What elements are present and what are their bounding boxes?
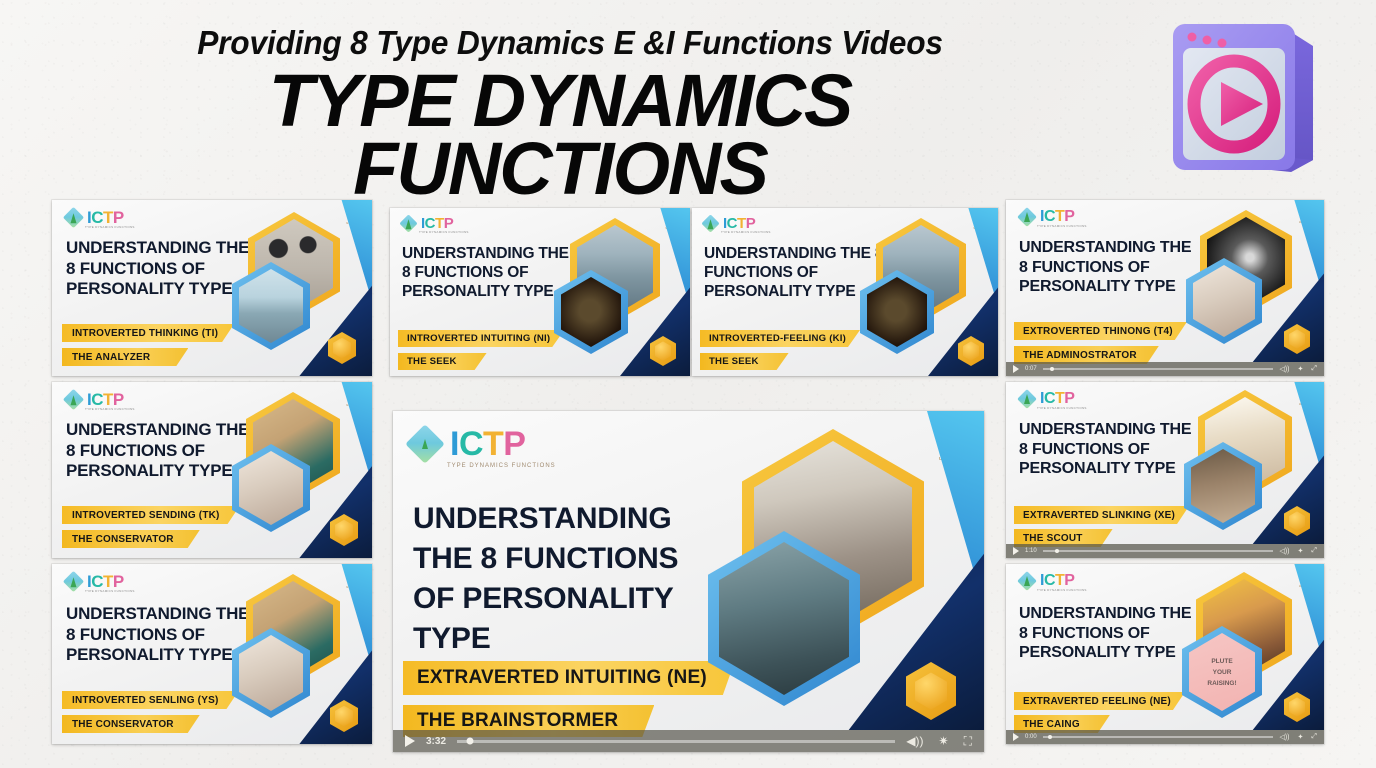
video-time: 0:07 xyxy=(1025,366,1037,372)
ictp-tagline: TYPE DYNAMICS FUNCTIONS xyxy=(85,225,135,229)
ictp-logo: ICTP xyxy=(411,427,525,461)
fullscreen-icon[interactable]: ⤢ xyxy=(1311,547,1317,555)
ictp-diamond-icon xyxy=(1017,389,1037,409)
ictp-diamond-icon xyxy=(399,214,417,232)
ictp-tagline: TYPE DYNAMICS FUNCTIONS xyxy=(1037,224,1087,228)
ictp-logo: ICTP xyxy=(1020,391,1074,407)
ictp-diamond-icon xyxy=(405,424,445,464)
video-progress-handle[interactable] xyxy=(1048,735,1052,739)
card-artwork xyxy=(1180,382,1324,544)
featured-video-card[interactable]: ICTP TYPE DYNAMICS FUNCTIONS Q UNIVERSIT… xyxy=(393,411,984,752)
video-player-3d-icon xyxy=(1163,12,1323,182)
card-artwork xyxy=(552,208,690,376)
ictp-wordmark: ICTP xyxy=(87,391,124,408)
gear-icon[interactable]: ✦ xyxy=(1298,547,1304,555)
card-headline: UNDERSTANDING THE 8 FUNCTIONS OF PERSONA… xyxy=(66,238,256,300)
featured-headline-line2: THE 8 FUNCTIONS xyxy=(413,543,703,574)
ictp-logo: ICTP xyxy=(402,216,453,231)
ictp-tagline: TYPE DYNAMICS FUNCTIONS xyxy=(1037,588,1087,592)
ictp-tagline: TYPE DYNAMICS FUNCTIONS xyxy=(1037,406,1087,410)
featured-artwork xyxy=(694,411,984,730)
featured-headline-line4: TYPE xyxy=(413,623,703,654)
header-subtitle: Providing 8 Type Dynamics E &I Functions… xyxy=(23,24,1117,62)
video-progress-handle[interactable] xyxy=(1055,549,1059,553)
card-artwork xyxy=(1182,200,1324,362)
note-line-2: YOUR xyxy=(1213,669,1232,676)
ictp-diamond-icon xyxy=(63,207,84,228)
role-ribbon: THE CONSERVATOR xyxy=(62,530,200,548)
ictp-logo: ICTP xyxy=(704,216,755,231)
ictp-tagline: TYPE DYNAMICS FUNCTIONS xyxy=(85,407,135,411)
card-headline: UNDERSTANDING THE 8 FUNCTIONS OF PERSONA… xyxy=(1019,420,1204,479)
video-progress-handle[interactable] xyxy=(1050,367,1054,371)
volume-icon[interactable]: ◁)) xyxy=(1279,733,1289,741)
video-card[interactable]: ICTP TYPE DYNAMICS FUNCTIONS Q UNIVERSIT… xyxy=(52,200,372,376)
card-artwork xyxy=(230,564,372,744)
card-headline: UNDERSTANDING THE 8 FUNCTIONS OF PERSONA… xyxy=(1019,238,1204,297)
card-artwork xyxy=(232,200,372,376)
ictp-wordmark: ICTP xyxy=(450,427,525,461)
fullscreen-icon[interactable]: ⤢ xyxy=(1311,365,1317,373)
ictp-wordmark: ICTP xyxy=(87,573,124,590)
ictp-wordmark: ICTP xyxy=(1040,209,1074,225)
video-card[interactable]: ICTP TYPE DYNAMICS FUNCTIONS Q UNIVERSIT… xyxy=(1006,200,1324,376)
video-card[interactable]: ICTP TYPE DYNAMICS FUNCTIONS Q UNIVERSIT… xyxy=(52,382,372,558)
video-control-bar[interactable]: 1:10 ◁)) ✦ ⤢ xyxy=(1006,544,1324,558)
gear-icon[interactable]: ✷ xyxy=(939,734,949,748)
volume-icon[interactable]: ◁)) xyxy=(1279,365,1289,373)
video-time: 3:32 xyxy=(426,736,446,747)
ictp-diamond-icon xyxy=(1017,571,1037,591)
video-control-bar[interactable]: 0:07 ◁)) ✦ ⤢ xyxy=(1006,362,1324,376)
page-title-line2: FUNCTIONS xyxy=(0,130,1120,208)
video-progress-track[interactable] xyxy=(457,740,895,743)
ictp-logo: ICTP xyxy=(1020,209,1074,225)
play-icon[interactable] xyxy=(1013,733,1019,741)
fullscreen-icon[interactable]: ⤢ xyxy=(1311,733,1317,741)
function-ribbon: INTROVERTED-FEELING (KI) xyxy=(700,330,860,347)
video-card[interactable]: ICTP TYPE DYNAMICS FUNCTIONS Q UNIVERSIT… xyxy=(692,208,998,376)
ictp-diamond-icon xyxy=(63,389,84,410)
ictp-tagline: TYPE DYNAMICS FUNCTIONS xyxy=(721,230,771,234)
role-ribbon: THE CONSERVATOR xyxy=(62,715,200,733)
video-right-controls[interactable]: ◁)) ✦ ⤢ xyxy=(1279,547,1317,555)
card-artwork xyxy=(230,382,372,558)
video-control-bar[interactable]: 0:00 ◁)) ✦ ⤢ xyxy=(1006,730,1324,744)
featured-function-ribbon: EXTRAVERTED INTUITING (Ne) xyxy=(403,661,735,695)
gear-icon[interactable]: ✦ xyxy=(1298,365,1304,373)
ictp-logo: ICTP xyxy=(1020,573,1074,589)
volume-icon[interactable]: ◁)) xyxy=(1279,547,1289,555)
card-artwork xyxy=(858,208,998,376)
role-ribbon: THE SEEK xyxy=(398,353,487,370)
function-ribbon: INTROVERTED INTUITING (Ni) xyxy=(398,330,564,347)
function-ribbon: INTROVERTED SENLING (YS) xyxy=(62,691,238,709)
video-time: 1:10 xyxy=(1025,548,1037,554)
video-card[interactable]: ICTP TYPE DYNAMICS FUNCTIONS Q UNIVERSIT… xyxy=(1006,382,1324,558)
volume-icon[interactable]: ◀)) xyxy=(906,734,923,748)
card-headline: UNDERSTANDING THE 8 FUNCTIONS OF PERSONA… xyxy=(1019,604,1204,663)
card-headline: UNDERSTANDING THE 8 FUNCTIONS OF PERSONA… xyxy=(66,604,256,666)
ictp-tagline: TYPE DYNAMICS FUNCTIONS xyxy=(85,589,135,593)
note-card-text: PLUTE YOUR RAISING! xyxy=(1189,633,1255,711)
play-icon[interactable] xyxy=(1013,365,1019,373)
video-right-controls[interactable]: ◀)) ✷ ⛶ xyxy=(906,734,972,749)
play-icon[interactable] xyxy=(1013,547,1019,555)
function-ribbon: INTROVERTED SENDING (Tk) xyxy=(62,506,240,524)
video-card[interactable]: ICTP TYPE DYNAMICS FUNCTIONS Q UNIVERSIT… xyxy=(390,208,690,376)
ictp-diamond-icon xyxy=(701,214,719,232)
ictp-wordmark: ICTP xyxy=(87,209,124,226)
featured-video-control-bar[interactable]: 3:32 ◀)) ✷ ⛶ xyxy=(393,730,984,752)
note-line-1: PLUTE xyxy=(1211,658,1232,665)
function-ribbon: INTROVERTED THINKING (Ti) xyxy=(62,324,234,342)
role-ribbon: THE SEEK xyxy=(700,353,789,370)
function-ribbon: EXTRAVERTED SLINKING (Xe) xyxy=(1014,506,1189,524)
video-progress-track[interactable] xyxy=(1043,368,1274,370)
video-card[interactable]: ICTP TYPE DYNAMICS FUNCTIONS Q UNIVERSIT… xyxy=(1006,564,1324,744)
card-headline: UNDERSTANDING THE 8 FUNCTIONS OF PERSONA… xyxy=(402,244,577,301)
video-progress-track[interactable] xyxy=(1043,736,1274,738)
ictp-tagline: TYPE DYNAMICS FUNCTIONS xyxy=(419,230,469,234)
function-ribbon: EXTROVERTED THINONG (T4) xyxy=(1014,322,1187,340)
card-headline: UNDERSTANDING THE 8 FUNCTIONS OF PERSONA… xyxy=(704,244,884,301)
video-progress-track[interactable] xyxy=(1043,550,1274,552)
ictp-tagline: TYPE DYNAMICS FUNCTIONS xyxy=(447,463,556,469)
ictp-diamond-icon xyxy=(63,571,84,592)
ictp-wordmark: ICTP xyxy=(723,216,755,231)
function-ribbon: EXTRAVERTED FEELING (Ne) xyxy=(1014,692,1185,710)
video-card[interactable]: ICTP TYPE DYNAMICS FUNCTIONS Q UNIVERSIT… xyxy=(52,564,372,744)
video-progress-handle[interactable] xyxy=(467,738,474,745)
video-time: 0:00 xyxy=(1025,734,1037,740)
page-header: Providing 8 Type Dynamics E &I Functions… xyxy=(0,0,1376,200)
ictp-wordmark: ICTP xyxy=(421,216,453,231)
ictp-logo: ICTP xyxy=(66,209,124,226)
note-line-3: RAISING! xyxy=(1207,680,1236,687)
card-headline: UNDERSTANDING THE 8 FUNCTIONS OF PERSONA… xyxy=(66,420,256,482)
ictp-wordmark: ICTP xyxy=(1040,573,1074,589)
video-right-controls[interactable]: ◁)) ✦ ⤢ xyxy=(1279,733,1317,741)
fullscreen-icon[interactable]: ⛶ xyxy=(964,734,972,749)
ictp-wordmark: ICTP xyxy=(1040,391,1074,407)
ictp-logo: ICTP xyxy=(66,573,124,590)
gear-icon[interactable]: ✦ xyxy=(1298,733,1304,741)
video-right-controls[interactable]: ◁)) ✦ ⤢ xyxy=(1279,365,1317,373)
card-artwork: PLUTE YOUR RAISING! xyxy=(1178,564,1324,730)
play-icon[interactable] xyxy=(405,735,415,747)
ictp-diamond-icon xyxy=(1017,207,1037,227)
featured-headline-line3: OF PERSONALITY xyxy=(413,583,703,614)
role-ribbon: THE ANALYZER xyxy=(62,348,188,366)
featured-headline-line1: UNDERSTANDING xyxy=(413,503,703,534)
ictp-logo: ICTP xyxy=(66,391,124,408)
featured-headline: UNDERSTANDING THE 8 FUNCTIONS OF PERSONA… xyxy=(413,503,703,654)
